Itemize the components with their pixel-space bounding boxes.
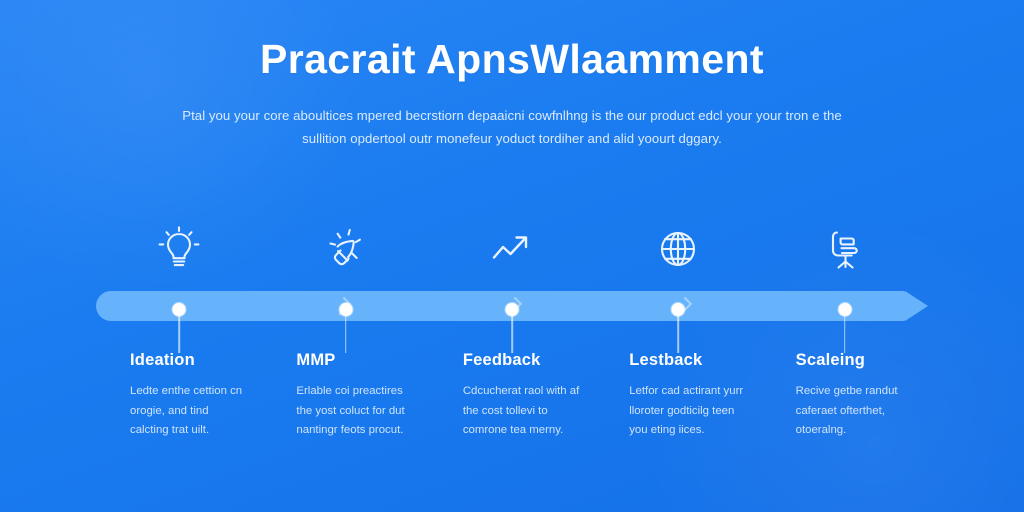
step-desc-mmp: Erlable coi preactires the yost coluct f…: [274, 382, 414, 441]
timeline-icon-cell-2: [262, 213, 428, 285]
poster-header: Pracrait ApnsWlaamment Ptal you your cor…: [0, 36, 1024, 151]
timeline-icon-cell-4: [595, 213, 761, 285]
timeline-stems: [96, 303, 928, 353]
timeline-node-1[interactable]: [96, 303, 262, 353]
lightbulb-icon: [156, 224, 202, 274]
timeline-step-3: Feedback Cdcucherat raol with af the cos…: [429, 351, 595, 441]
timeline-stem-line-2: [345, 315, 347, 353]
step-desc-scaleing: Recive getbe randut caferaet ofterthet, …: [774, 382, 914, 441]
step-title-scaleing: Scaleing: [774, 351, 916, 370]
step-title-lestback: Lestback: [607, 351, 749, 370]
timeline-labels: Ideation Ledte enthe cettion cn orogie, …: [96, 351, 928, 441]
timeline-stem-line-3: [511, 315, 513, 353]
timeline-icon-row: [96, 213, 928, 285]
timeline-icon-cell-3: [429, 213, 595, 285]
timeline-icon-cell-1: [96, 213, 262, 285]
step-desc-lestback: Letfor cad actirant yurr lloroter godtic…: [607, 382, 747, 441]
step-desc-ideation: Ledte enthe cettion cn orogie, and tind …: [108, 382, 248, 441]
timeline-stem-line-5: [844, 315, 846, 353]
globe-icon: [654, 225, 702, 273]
timeline-stem-line-4: [678, 315, 680, 353]
step-title-feedback: Feedback: [441, 351, 583, 370]
timeline-stem-line-1: [178, 315, 180, 353]
office-chair-icon: [821, 224, 869, 274]
page-title: Pracrait ApnsWlaamment: [0, 36, 1024, 83]
timeline-step-1: Ideation Ledte enthe cettion cn orogie, …: [96, 351, 262, 441]
trending-up-arrow-icon: [486, 226, 538, 272]
timeline-node-2[interactable]: [262, 303, 428, 353]
timeline-icon-cell-5: [762, 213, 928, 285]
timeline-node-4[interactable]: [595, 303, 761, 353]
timeline-step-5: Scaleing Recive getbe randut caferaet of…: [762, 351, 928, 441]
rocket-launch-icon: [321, 224, 371, 274]
timeline-node-3[interactable]: [429, 303, 595, 353]
timeline-step-2: MMP Erlable coi preactires the yost colu…: [262, 351, 428, 441]
step-desc-feedback: Cdcucherat raol with af the cost tollevi…: [441, 382, 581, 441]
poster-canvas: Pracrait ApnsWlaamment Ptal you your cor…: [0, 0, 1024, 512]
timeline-node-5[interactable]: [762, 303, 928, 353]
poster-subtitle: Ptal you your core aboultices mpered bec…: [182, 105, 842, 150]
step-title-mmp: MMP: [274, 351, 416, 370]
step-title-ideation: Ideation: [108, 351, 250, 370]
subtitle-line-1: Ptal you your core aboultices mpered bec…: [182, 108, 752, 123]
timeline: Ideation Ledte enthe cettion cn orogie, …: [0, 205, 1024, 465]
timeline-step-4: Lestback Letfor cad actirant yurr llorot…: [595, 351, 761, 441]
